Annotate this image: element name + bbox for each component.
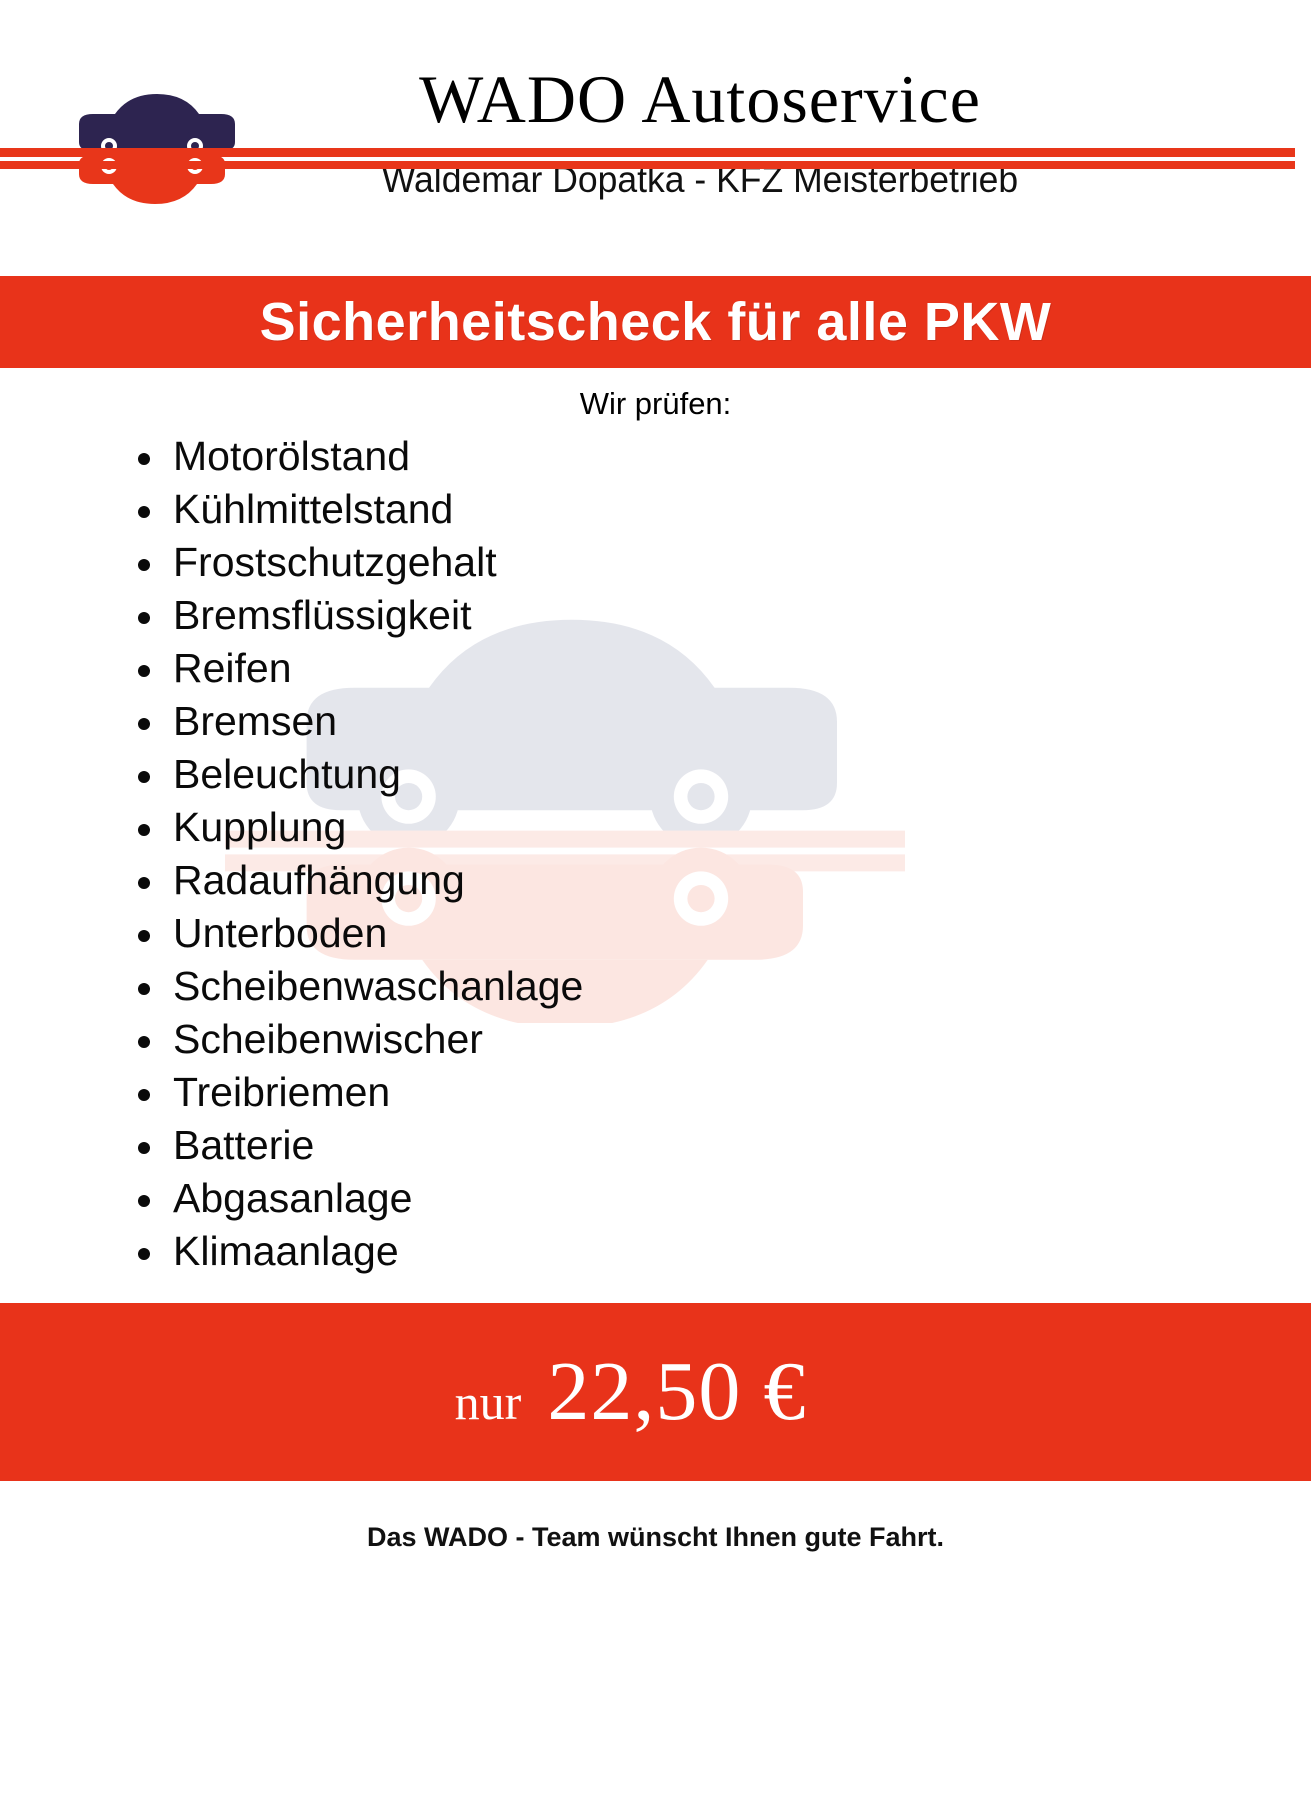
list-item: Kühlmittelstand [135,483,583,536]
list-item: Beleuchtung [135,748,583,801]
list-item: Batterie [135,1119,583,1172]
company-name: WADO Autoservice [330,60,1070,138]
content-area: Wir prüfen: Motorölstand Kühlmittelstand… [0,368,1311,1298]
brand-block: WADO Autoservice Waldemar Dopatka - KFZ … [330,60,1070,202]
list-item: Motorölstand [135,430,583,483]
header-accent-rule-top [0,148,1295,157]
list-item: Abgasanlage [135,1172,583,1225]
price-banner: nur 22,50 € [0,1303,1311,1481]
price-amount: 22,50 € [547,1346,806,1438]
check-list: Motorölstand Kühlmittelstand Frostschutz… [135,430,583,1278]
list-item: Radaufhängung [135,854,583,907]
price-inner: nur 22,50 € [455,1346,807,1438]
title-banner: Sicherheitscheck für alle PKW [0,276,1311,368]
list-item: Klimaanlage [135,1225,583,1278]
check-list-prompt: Wir prüfen: [0,386,1311,422]
list-item: Unterboden [135,907,583,960]
list-item: Bremsen [135,695,583,748]
list-item: Scheibenwaschanlage [135,960,583,1013]
footer-message: Das WADO - Team wünscht Ihnen gute Fahrt… [0,1520,1311,1554]
header-accent-rule-bottom [0,161,1295,169]
banner-title: Sicherheitscheck für alle PKW [260,292,1052,352]
list-item: Treibriemen [135,1066,583,1119]
list-item: Frostschutzgehalt [135,536,583,589]
list-item: Scheibenwischer [135,1013,583,1066]
list-item: Bremsflüssigkeit [135,589,583,642]
page-header: WADO Autoservice Waldemar Dopatka - KFZ … [0,0,1311,276]
list-item: Kupplung [135,801,583,854]
list-item: Reifen [135,642,583,695]
car-logo-icon [55,72,255,212]
price-prefix: nur [455,1374,522,1430]
